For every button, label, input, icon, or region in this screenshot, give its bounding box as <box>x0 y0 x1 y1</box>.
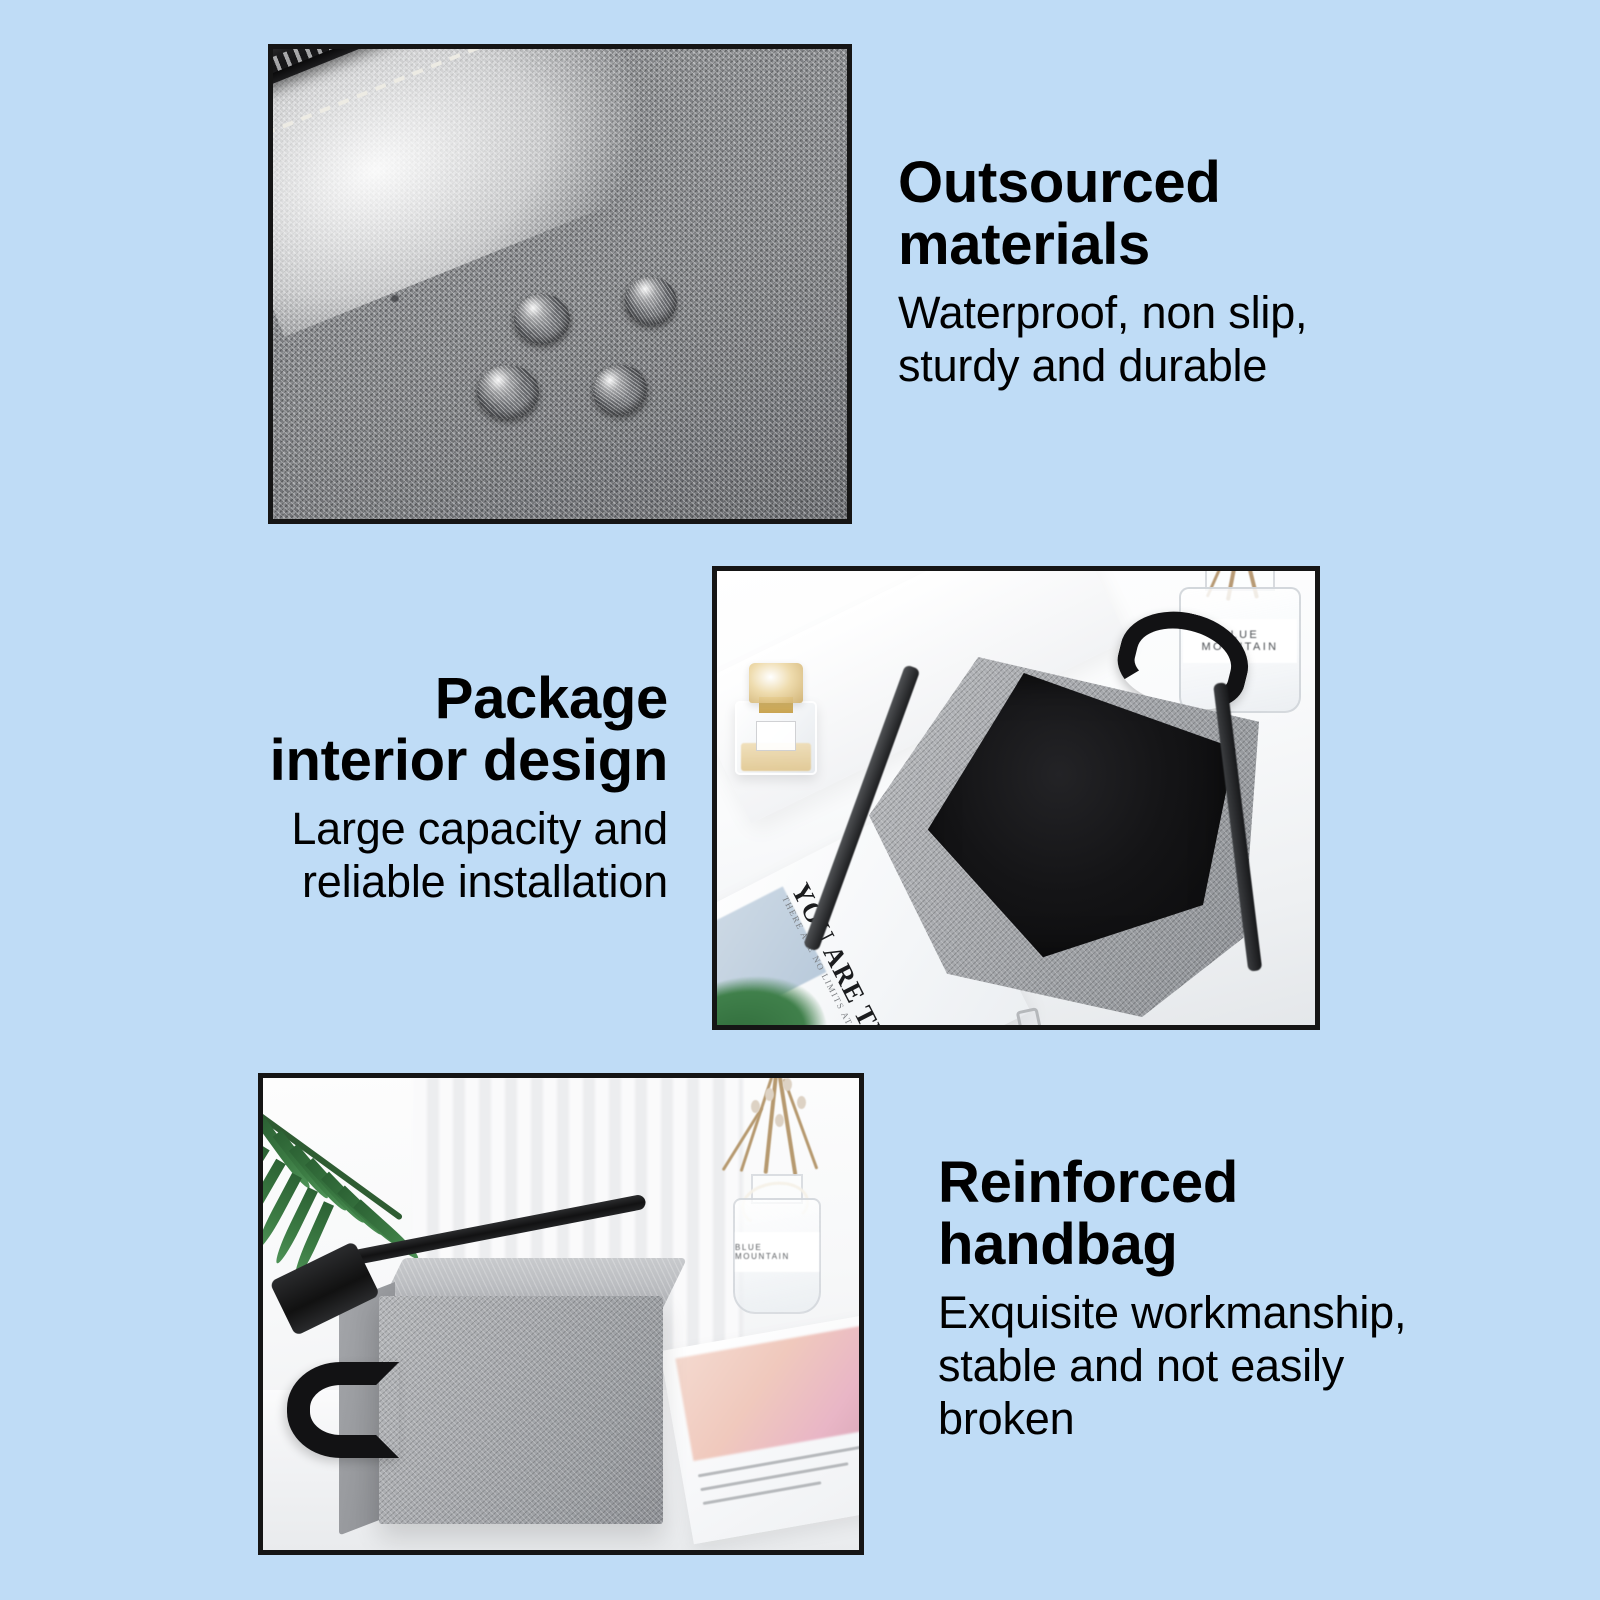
fabric-closeup-photo <box>268 44 852 524</box>
closed-grey-bag <box>321 1234 681 1536</box>
perfume-bottle <box>735 663 817 775</box>
bud <box>751 1100 760 1113</box>
feature-description-interior: Large capacity and reliable installation <box>88 802 668 908</box>
feature-description-handbag: Exquisite workmanship, stable and not ea… <box>938 1286 1538 1445</box>
feature-text-materials: Outsourced materials Waterproof, non sli… <box>898 152 1518 392</box>
feature-heading-handbag: Reinforced handbag <box>938 1152 1538 1276</box>
bud <box>775 1114 784 1127</box>
fabric-photo-inner <box>273 49 847 519</box>
zipper-pull <box>1016 1007 1045 1025</box>
feature-text-interior: Package interior design Large capacity a… <box>88 668 668 908</box>
vase-label: BLUE MOUNTAIN <box>735 1232 819 1272</box>
perfume-label <box>756 721 796 751</box>
closed-bag-photo: BLUE MOUNTAIN <box>258 1073 864 1555</box>
feature-text-handbag: Reinforced handbag Exquisite workmanship… <box>938 1152 1538 1445</box>
magazine-image <box>675 1324 859 1461</box>
bud <box>765 1088 774 1101</box>
black-webbing-handle <box>287 1362 399 1458</box>
feature-description-materials: Waterproof, non slip, sturdy and durable <box>898 286 1518 392</box>
bag-front-panel <box>379 1296 663 1524</box>
glass-vase-with-dried-branches: BLUE MOUNTAIN <box>707 1094 835 1314</box>
open-bag-photo: BLUE MOUNTAIN YOU ARE THE SUN THERE ARE … <box>712 566 1320 1030</box>
water-droplet <box>514 294 570 344</box>
magazine-text-line <box>700 1462 848 1491</box>
perfume-cap <box>749 663 803 703</box>
bud <box>783 1078 792 1091</box>
open-grey-bag <box>869 619 1299 1025</box>
open-bag-photo-inner: BLUE MOUNTAIN YOU ARE THE SUN THERE ARE … <box>717 571 1315 1025</box>
fabric-speck <box>391 295 399 302</box>
feature-heading-materials: Outsourced materials <box>898 152 1518 276</box>
feature-heading-interior: Package interior design <box>88 668 668 792</box>
bud <box>797 1096 806 1109</box>
closed-bag-photo-inner: BLUE MOUNTAIN <box>263 1078 859 1550</box>
infographic-canvas: Outsourced materials Waterproof, non sli… <box>0 0 1600 1600</box>
water-droplet <box>477 365 539 419</box>
